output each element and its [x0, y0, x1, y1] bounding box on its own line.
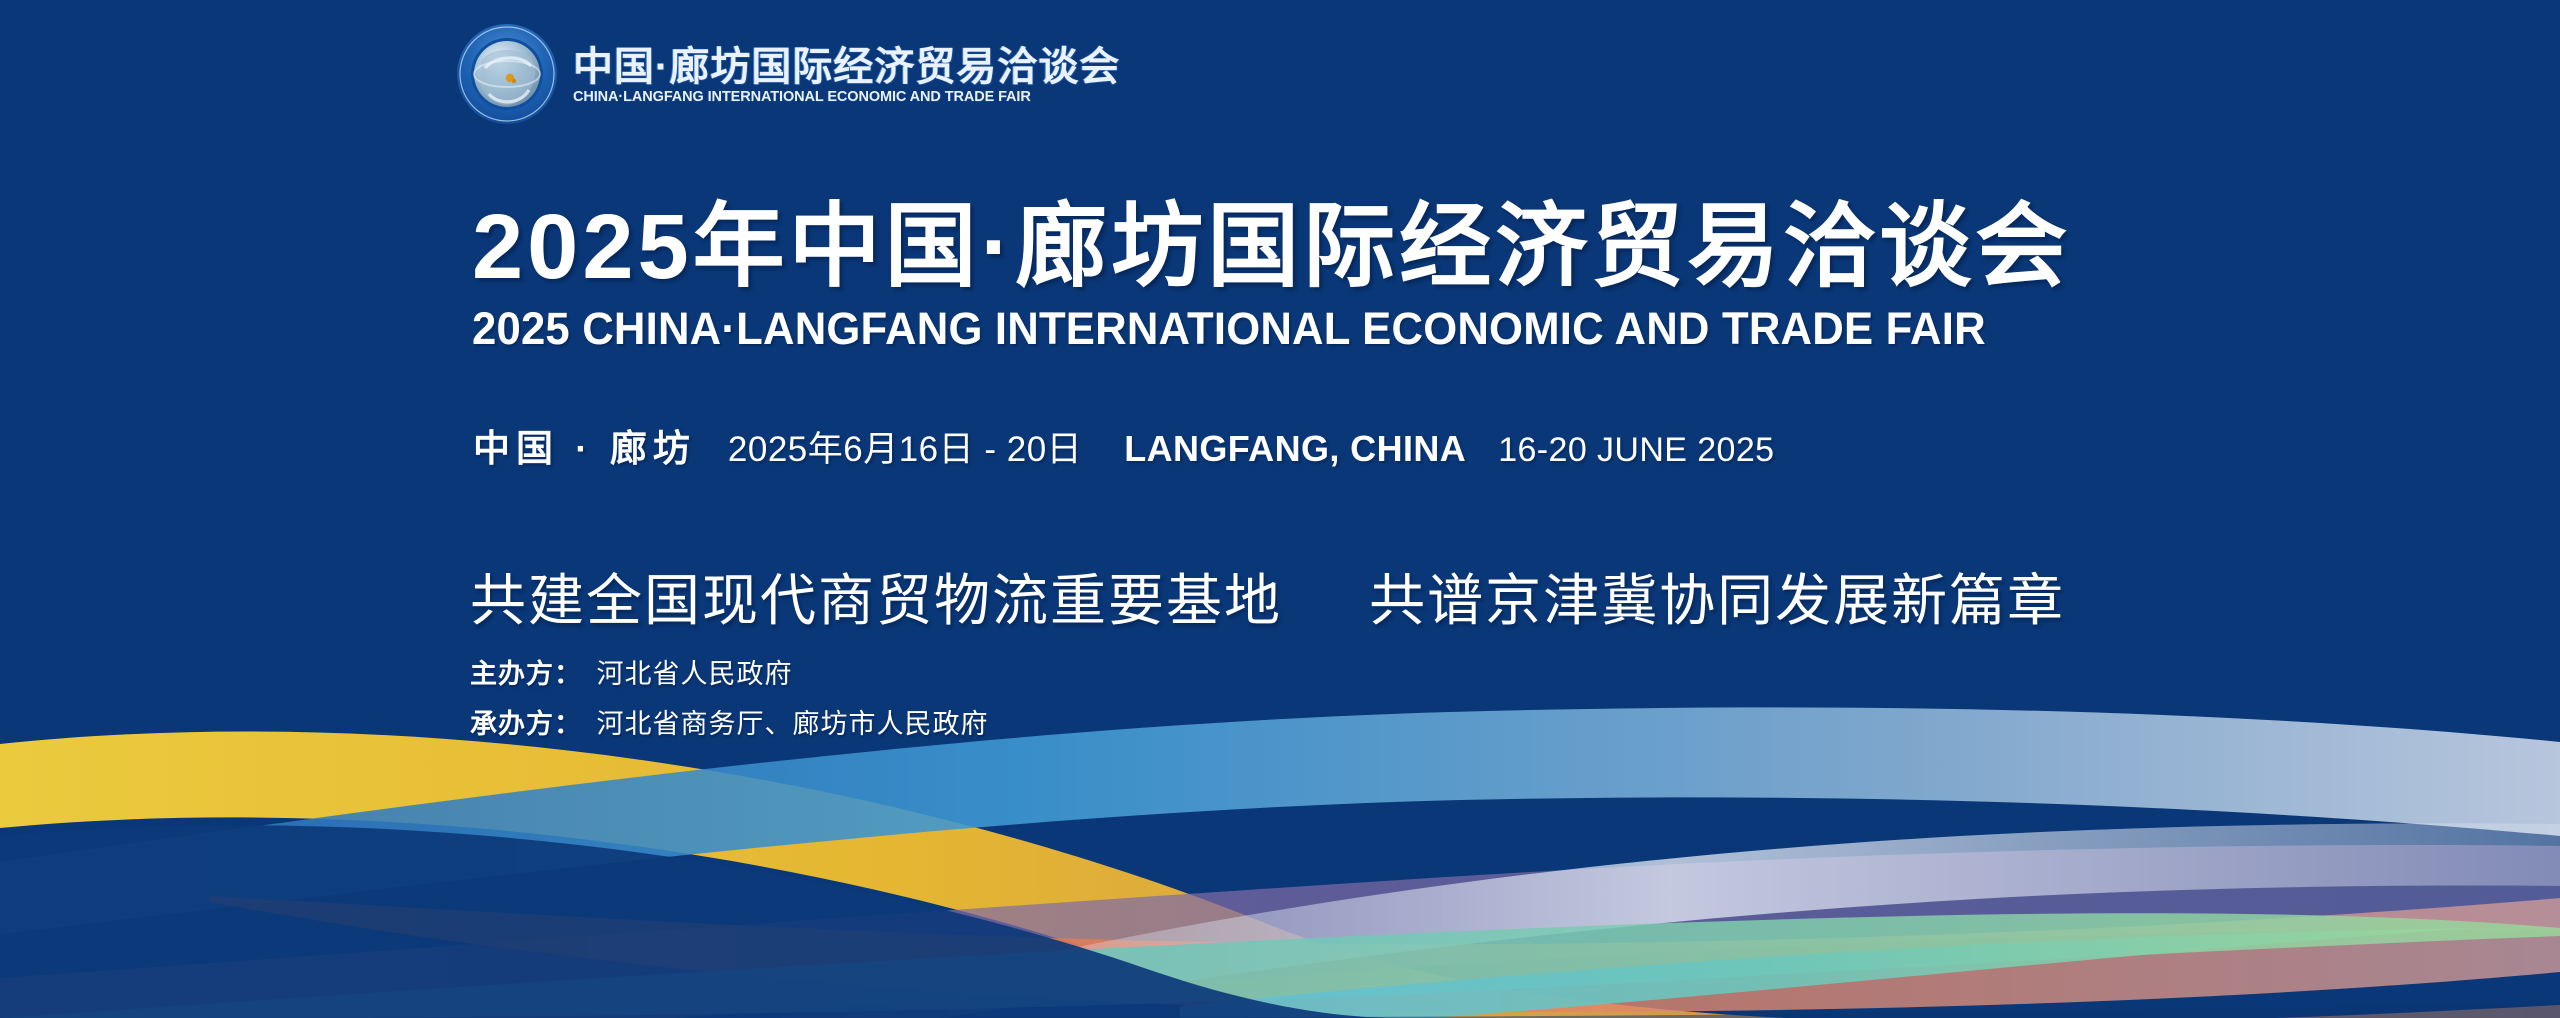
- logo-wordmark: 中国·廊坊国际经济贸易洽谈会 CHINA·LANGFANG INTERNATIO…: [573, 43, 1120, 106]
- headline: 2025年中国·廊坊国际经济贸易洽谈会 2025 CHINA·LANGFANG …: [472, 196, 2172, 355]
- globe-emblem-icon: [455, 22, 559, 126]
- coorganizer-line: 承办方： 河北省商务厅、廊坊市人民政府: [470, 702, 989, 741]
- ribbon-purple: [0, 845, 2560, 1018]
- ribbon-gold-band: [0, 732, 2560, 1018]
- ribbon-white-band: [780, 823, 2560, 1018]
- wave-ribbons-decoration: [0, 0, 2560, 1018]
- coorganizer-value: 河北省商务厅、廊坊市人民政府: [597, 709, 989, 739]
- navy-overlay-left: [0, 825, 1400, 1018]
- date-chinese: 2025年6月16日 - 20日: [728, 421, 1082, 472]
- city-english: LANGFANG, CHINA: [1124, 428, 1466, 470]
- ribbon-orange: [210, 896, 2560, 1012]
- event-meta-row: 中国 · 廊坊 2025年6月16日 - 20日 LANGFANG, CHINA…: [473, 418, 1774, 472]
- slogan-part-2: 共谱京津冀协同发展新篇章: [1369, 569, 2065, 632]
- host-label: 主办方：: [470, 659, 582, 689]
- host-value: 河北省人民政府: [597, 659, 793, 689]
- coorganizer-label: 承办方：: [470, 709, 582, 739]
- host-organizer-line: 主办方： 河北省人民政府: [470, 652, 793, 691]
- navy-overlay-bottom: [0, 1002, 2560, 1018]
- city-chinese: 中国 · 廊坊: [473, 418, 696, 472]
- logo-wordmark-cn: 中国·廊坊国际经济贸易洽谈会: [573, 47, 1120, 89]
- event-slogan: 共建全国现代商贸物流重要基地 共谱京津冀协同发展新篇章: [470, 556, 2065, 637]
- date-english: 16-20 JUNE 2025: [1498, 431, 1774, 470]
- ribbon-teal-tail: [1180, 928, 2475, 1018]
- slogan-part-1: 共建全国现代商贸物流重要基地: [470, 569, 1282, 632]
- title-english: 2025 CHINA·LANGFANG INTERNATIONAL ECONOM…: [472, 303, 2121, 355]
- ribbon-teal: [0, 913, 2560, 1018]
- logo-wordmark-en: CHINA·LANGFANG INTERNATIONAL ECONOMIC AN…: [573, 89, 1120, 105]
- event-banner: 中国·廊坊国际经济贸易洽谈会 CHINA·LANGFANG INTERNATIO…: [0, 0, 2560, 1018]
- event-logo[interactable]: 中国·廊坊国际经济贸易洽谈会 CHINA·LANGFANG INTERNATIO…: [455, 22, 1120, 126]
- ribbon-blue: [0, 707, 2560, 934]
- title-chinese: 2025年中国·廊坊国际经济贸易洽谈会: [472, 196, 2172, 299]
